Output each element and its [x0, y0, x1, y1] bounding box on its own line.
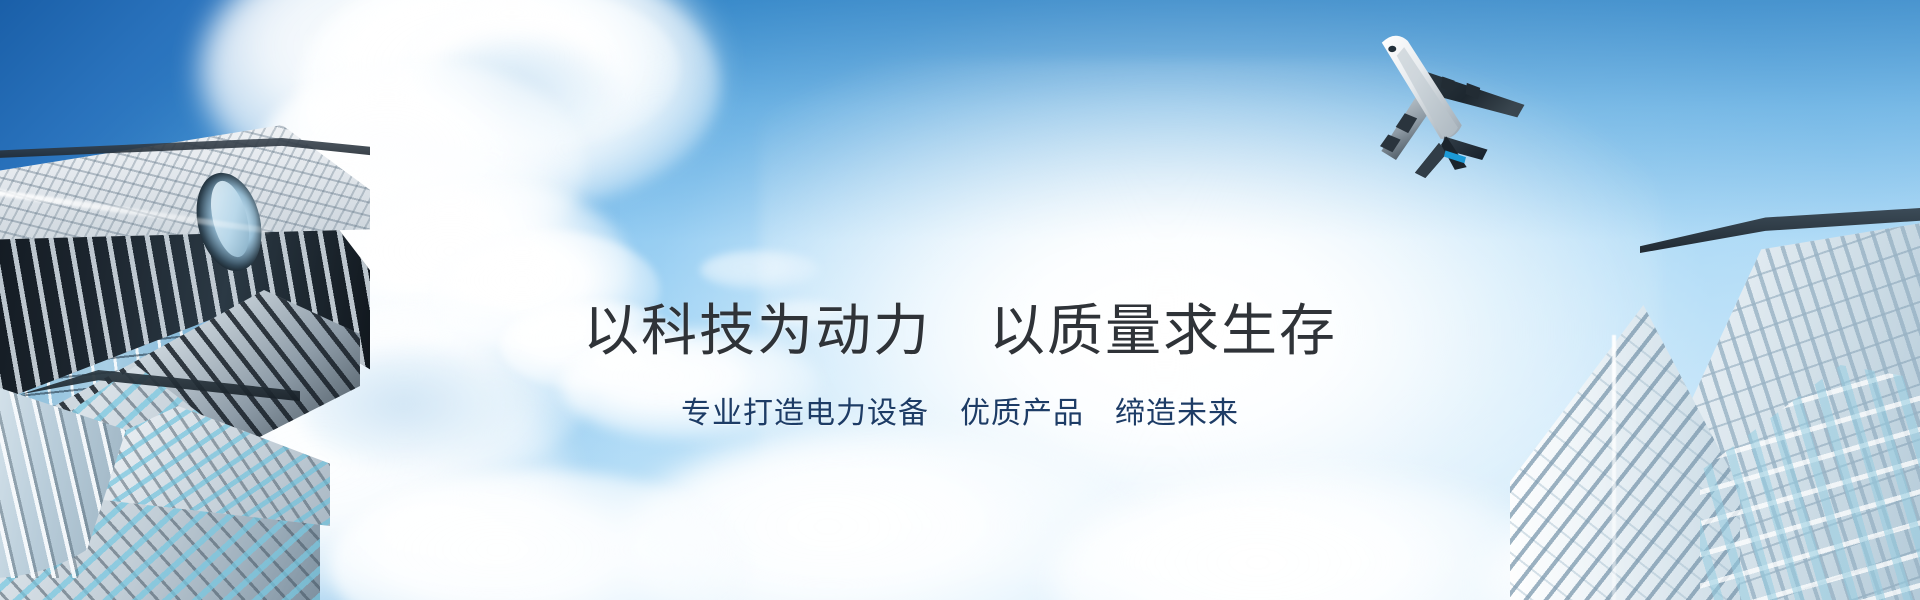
airplane: [1350, 12, 1551, 190]
right-skyscraper-corner-edge: [1612, 335, 1616, 600]
right-skyscraper: [1490, 175, 1920, 600]
left-secondary-tower: [0, 360, 320, 600]
company-hero-banner: 以科技为动力 以质量求生存 专业打造电力设备 优质产品 缔造未来: [0, 0, 1920, 600]
